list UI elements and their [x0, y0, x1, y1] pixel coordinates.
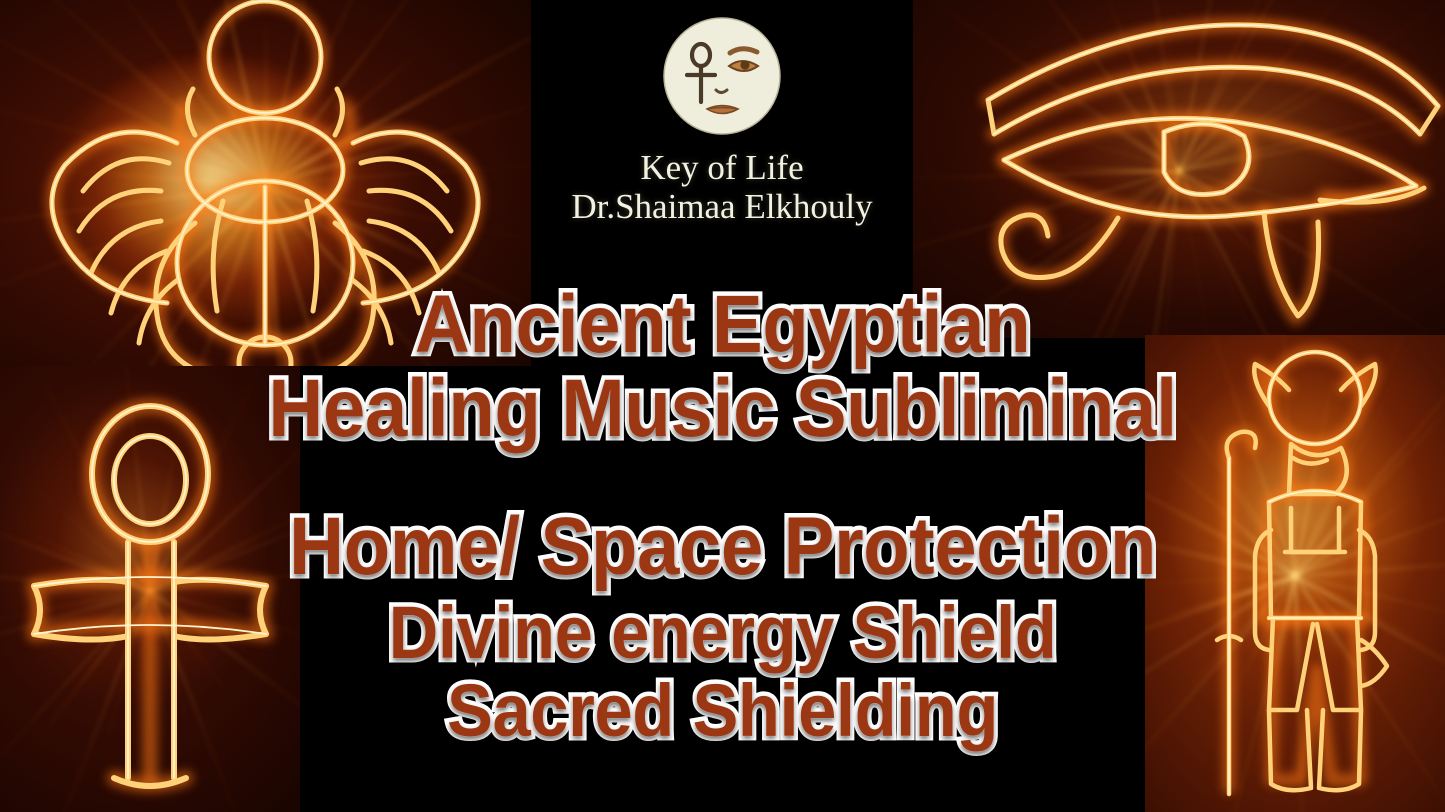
subheadline-line-3: Sacred Shielding [51, 668, 1395, 753]
brand-line-1: Key of Life [531, 148, 913, 187]
thumbnail-canvas: Key of Life Dr.Shaimaa Elkhouly [0, 0, 1445, 812]
brand-line-2: Dr.Shaimaa Elkhouly [531, 187, 913, 226]
headline-line-2: Healing Music Subliminal [51, 362, 1395, 456]
key-of-life-logo-icon [660, 14, 784, 138]
subheadline-line-2: Divine energy Shield [51, 590, 1395, 675]
subheadline-line-1: Home/ Space Protection [51, 500, 1395, 594]
headline-line-1: Ancient Egyptian [51, 278, 1395, 372]
